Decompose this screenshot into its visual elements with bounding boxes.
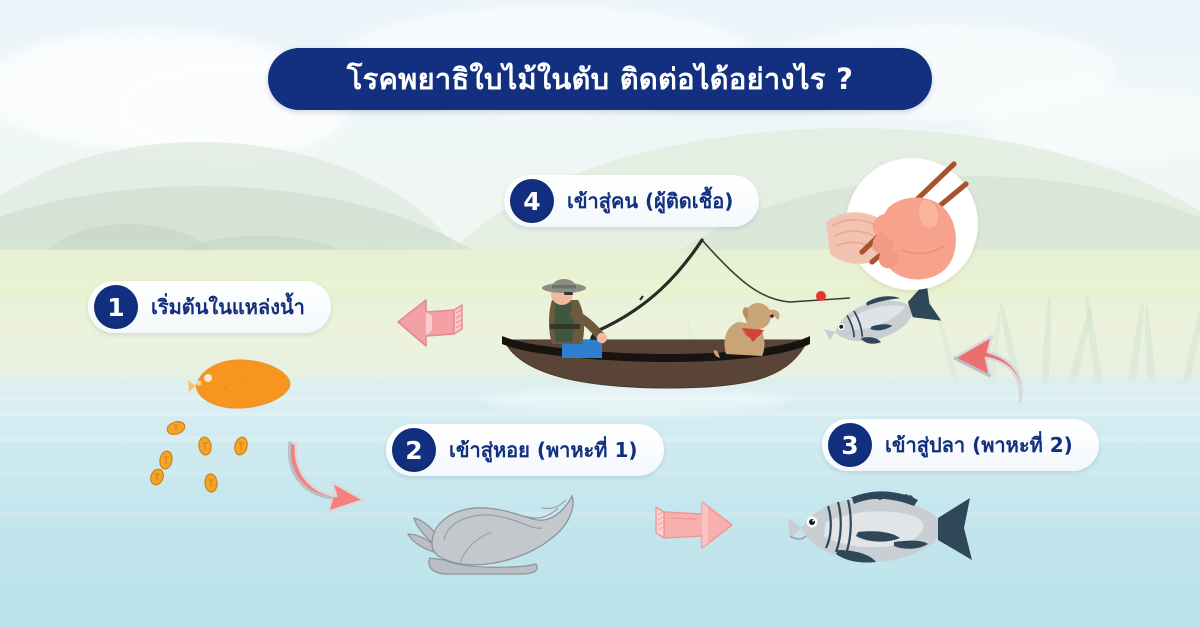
hand-with-chopsticks-illustration [826, 146, 1006, 306]
step-1[interactable]: 1 เริ่มต้นในแหล่งน้ำ [88, 281, 331, 333]
step-1-number: 1 [107, 295, 124, 320]
water-band-5 [0, 512, 1200, 519]
step-2-badge: 2 [392, 428, 436, 472]
step-4-badge: 4 [510, 179, 554, 223]
step-2-label: เข้าสู่หอย (พาหะที่ 1) [449, 434, 638, 466]
step-3[interactable]: 3 เข้าสู่ปลา (พาหะที่ 2) [822, 419, 1099, 471]
fluke-egg-5 [202, 473, 220, 493]
step-4[interactable]: 4 เข้าสู่คน (ผู้ติดเชื้อ) [504, 175, 759, 227]
step-3-label: เข้าสู่ปลา (พาหะที่ 2) [885, 429, 1073, 461]
bobber-icon [816, 291, 826, 301]
step-3-number: 3 [841, 433, 858, 458]
step-4-number: 4 [523, 189, 540, 214]
page-title: โรคพยาธิใบไม้ในตับ ติดต่อได้อย่างไร ? [268, 48, 932, 110]
water-band-6 [0, 564, 1200, 570]
infographic-canvas: โรคพยาธิใบไม้ในตับ ติดต่อได้อย่างไร ? [0, 0, 1200, 628]
fluke-egg-1 [166, 420, 186, 436]
fish-in-water-illustration [776, 474, 976, 582]
step-1-label: เริ่มต้นในแหล่งน้ำ [151, 291, 305, 323]
arrow-to-human [946, 324, 1038, 406]
page-title-text: โรคพยาธิใบไม้ในตับ ติดต่อได้อย่างไร ? [347, 56, 854, 102]
fluke-egg-2 [157, 450, 175, 470]
step-2-number: 2 [405, 438, 422, 463]
fisherman-canoe-illustration [490, 228, 850, 398]
step-4-label: เข้าสู่คน (ผู้ติดเชื้อ) [567, 185, 733, 217]
fluke-egg-4 [232, 436, 250, 456]
fluke-egg-6 [148, 468, 166, 486]
fluke-egg-3 [196, 436, 214, 456]
liver-fluke-illustration [186, 352, 294, 414]
snail-illustration [404, 486, 584, 586]
step-2[interactable]: 2 เข้าสู่หอย (พาหะที่ 1) [386, 424, 664, 476]
hand-shape [873, 198, 956, 280]
arrow-to-fish [648, 492, 740, 558]
step-3-badge: 3 [828, 423, 872, 467]
step-1-badge: 1 [94, 285, 138, 329]
arrow-to-boat [392, 290, 472, 352]
arrow-to-snail [288, 434, 372, 514]
